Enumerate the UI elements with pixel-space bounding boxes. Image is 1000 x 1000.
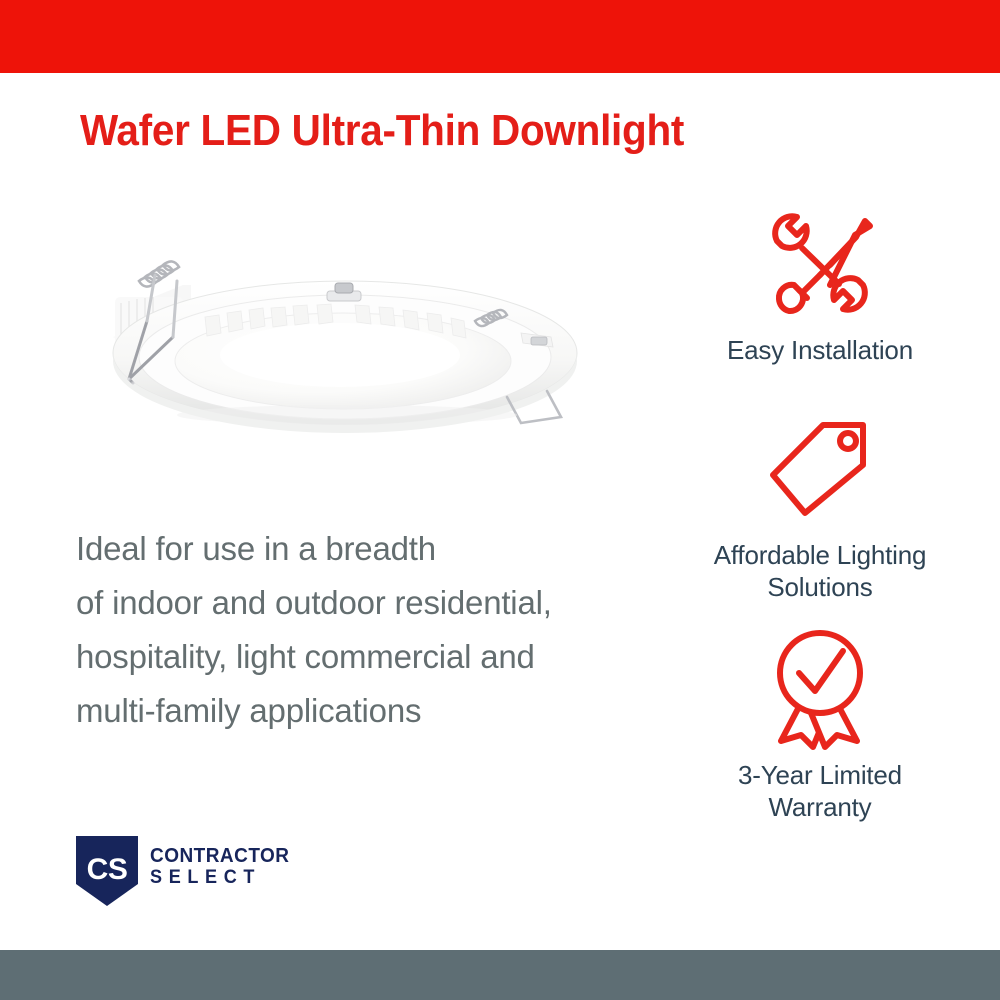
feature-affordable-lighting: Affordable Lighting Solutions [660,410,980,603]
logo-word-contractor: CONTRACTOR [150,846,290,867]
feature-warranty: 3-Year Limited Warranty [660,630,980,823]
logo-word-select: SELECT [150,867,290,889]
cs-shield-icon: CS [76,836,138,906]
product-description: Ideal for use in a breadth of indoor and… [76,522,676,738]
top-red-band [0,0,1000,73]
logo-wordmark: CONTRACTOR SELECT [150,846,297,889]
contractor-select-logo: CS CONTRACTOR SELECT [76,836,306,906]
description-line-3: hospitality, light commercial and [76,630,676,684]
description-line-4: multi-family applications [76,684,676,738]
feature-label-line-1: Affordable Lighting [714,540,927,570]
award-ribbon-check-icon [660,630,980,745]
feature-label: Easy Installation [660,334,980,366]
product-marketing-page: Wafer LED Ultra-Thin Downlight [0,0,1000,1000]
feature-label-line-2: Warranty [660,791,980,823]
svg-text:CS: CS [87,853,128,886]
price-tag-icon [660,410,980,525]
feature-easy-installation: Easy Installation [660,205,980,366]
feature-label-line-1: 3-Year Limited [738,760,902,790]
product-image [55,225,625,475]
description-line-2: of indoor and outdoor residential, [76,576,676,630]
feature-label: 3-Year Limited Warranty [660,759,980,823]
feature-label: Affordable Lighting Solutions [660,539,980,603]
bottom-slate-band [0,950,1000,1000]
feature-label-line-2: Solutions [660,571,980,603]
wrench-screwdriver-icon [660,205,980,320]
feature-label-line-1: Easy Installation [727,335,913,365]
description-line-1: Ideal for use in a breadth [76,522,676,576]
page-title: Wafer LED Ultra-Thin Downlight [80,108,724,154]
